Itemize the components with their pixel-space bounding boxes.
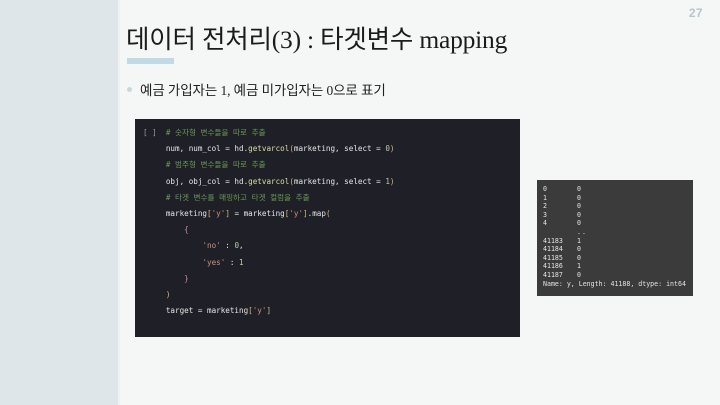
code-token-str: 'y' <box>289 209 303 218</box>
code-token-comment: # 범주형 변수들을 따로 추출 <box>166 160 266 169</box>
code-token-plain: : <box>225 258 239 267</box>
code-token-plain: obj, obj_col = hd. <box>166 177 248 186</box>
title-underline-accent <box>127 58 174 64</box>
code-line: ) <box>135 287 520 303</box>
output-row: 10 <box>543 194 693 203</box>
code-token-str: 'no' <box>202 241 220 250</box>
code-token-plain: marketing, select = <box>294 144 385 153</box>
output-summary: Name: y, Length: 41188, dtype: int64 <box>543 280 693 289</box>
code-gutter-spacer <box>143 274 166 283</box>
code-token-brace-y: ) <box>390 144 395 153</box>
output-row-value: 0 <box>577 185 581 193</box>
code-token-str: 'y' <box>212 209 226 218</box>
code-line: # 범주형 변수들을 따로 추출 <box>135 157 520 173</box>
output-row: 411831 <box>543 237 693 246</box>
output-row-index: 0 <box>543 185 577 194</box>
code-token-str: 'y' <box>253 306 267 315</box>
code-token-str: 'yes' <box>202 258 225 267</box>
output-row-index: 41183 <box>543 237 577 246</box>
code-line: 'no' : 0, <box>135 238 520 254</box>
output-row: 411840 <box>543 245 693 254</box>
page-number: 27 <box>689 6 703 20</box>
output-row-value: 0 <box>577 194 581 202</box>
page-title: 데이터 전처리(3) : 타겟변수 mapping <box>126 19 507 56</box>
output-row-index: 41186 <box>543 262 577 271</box>
code-token-plain: = marketing <box>230 209 285 218</box>
output-row-index: 41185 <box>543 254 577 263</box>
output-row: 411850 <box>543 254 693 263</box>
output-row-value: 1 <box>577 237 581 245</box>
code-token-plain: target = marketing <box>166 306 248 315</box>
code-output-text: 0010203040..4118314118404118504118614118… <box>543 185 693 288</box>
left-decorative-band <box>0 0 118 405</box>
code-gutter-spacer <box>143 225 166 234</box>
code-cell-source: [ ] # 숫자형 변수들을 따로 추출 num, num_col = hd.g… <box>135 125 520 319</box>
code-gutter-spacer <box>143 241 166 250</box>
output-row-value: 0 <box>577 245 581 253</box>
code-token-brace-y: ) <box>390 177 395 186</box>
code-gutter-spacer <box>143 160 166 169</box>
output-row-index: 4 <box>543 219 577 228</box>
output-row: 20 <box>543 202 693 211</box>
output-row-index: 3 <box>543 211 577 220</box>
left-band-edge <box>118 0 120 405</box>
code-token-comment: # 타겟 변수를 매핑하고 타겟 컬럼을 추출 <box>166 193 310 202</box>
code-line: marketing['y'] = marketing['y'].map( <box>135 206 520 222</box>
output-row-value: 0 <box>577 219 581 227</box>
code-token-plain: marketing, select = <box>294 177 385 186</box>
code-output-panel: 0010203040..4118314118404118504118614118… <box>537 180 693 296</box>
code-token-brace-p: { <box>184 225 189 234</box>
code-token-comment: # 숫자형 변수들을 따로 추출 <box>166 128 266 137</box>
code-line: # 타겟 변수를 매핑하고 타겟 컬럼을 추출 <box>135 190 520 206</box>
output-row: 30 <box>543 211 693 220</box>
code-gutter-spacer <box>143 290 166 299</box>
code-line: [ ] # 숫자형 변수들을 따로 추출 <box>135 125 520 141</box>
code-token-func: getvarcol <box>248 177 289 186</box>
code-token-func: getvarcol <box>248 144 289 153</box>
code-gutter-spacer <box>143 177 166 186</box>
code-gutter-spacer <box>143 258 166 267</box>
output-row: 411861 <box>543 262 693 271</box>
code-line: { <box>135 222 520 238</box>
code-token-brace-p: } <box>184 274 189 283</box>
output-row-value: 0 <box>577 254 581 262</box>
code-token-plain: num, num_col = hd. <box>166 144 248 153</box>
code-token-plain <box>166 258 203 267</box>
output-row-value: 0 <box>577 271 581 279</box>
output-row-value: 0 <box>577 202 581 210</box>
code-line: target = marketing['y'] <box>135 303 520 319</box>
code-token-plain: .map <box>308 209 326 218</box>
code-token-plain <box>166 225 184 234</box>
output-row: 411870 <box>543 271 693 280</box>
output-row: 00 <box>543 185 693 194</box>
output-ellipsis: .. <box>543 228 693 237</box>
code-token-brace-y: ] <box>266 306 271 315</box>
code-line: num, num_col = hd.getvarcol(marketing, s… <box>135 141 520 157</box>
code-line: 'yes' : 1 <box>135 255 520 271</box>
code-token-brace-y: ( <box>326 209 331 218</box>
slide-canvas: 27 데이터 전처리(3) : 타겟변수 mapping 예금 가입자는 1, … <box>0 0 720 405</box>
output-row-index: 41184 <box>543 245 577 254</box>
code-token-plain <box>166 274 184 283</box>
code-token-plain: : <box>221 241 235 250</box>
code-token-plain: , <box>239 241 244 250</box>
output-row-value: 0 <box>577 211 581 219</box>
code-gutter-spacer <box>143 144 166 153</box>
code-token-brace-y: ) <box>166 290 171 299</box>
bullet-list: 예금 가입자는 1, 예금 미가입자는 0으로 표기 <box>127 79 386 99</box>
code-cell[interactable]: [ ] # 숫자형 변수들을 따로 추출 num, num_col = hd.g… <box>135 119 520 337</box>
bullet-item-text: 예금 가입자는 1, 예금 미가입자는 0으로 표기 <box>140 79 386 99</box>
output-row: 40 <box>543 219 693 228</box>
code-line: } <box>135 271 520 287</box>
output-row-index: 1 <box>543 194 577 203</box>
code-token-num: 1 <box>239 258 244 267</box>
code-token-plain: marketing <box>166 209 207 218</box>
output-row-index: 2 <box>543 202 577 211</box>
code-token-plain <box>166 241 203 250</box>
output-row-index: 41187 <box>543 271 577 280</box>
code-gutter-spacer <box>143 306 166 315</box>
code-gutter-spacer <box>143 193 166 202</box>
output-row-value: 1 <box>577 262 581 270</box>
code-gutter-spacer <box>143 209 166 218</box>
code-prompt: [ ] <box>143 128 166 137</box>
bullet-marker-icon <box>127 87 132 92</box>
code-line: obj, obj_col = hd.getvarcol(marketing, s… <box>135 174 520 190</box>
